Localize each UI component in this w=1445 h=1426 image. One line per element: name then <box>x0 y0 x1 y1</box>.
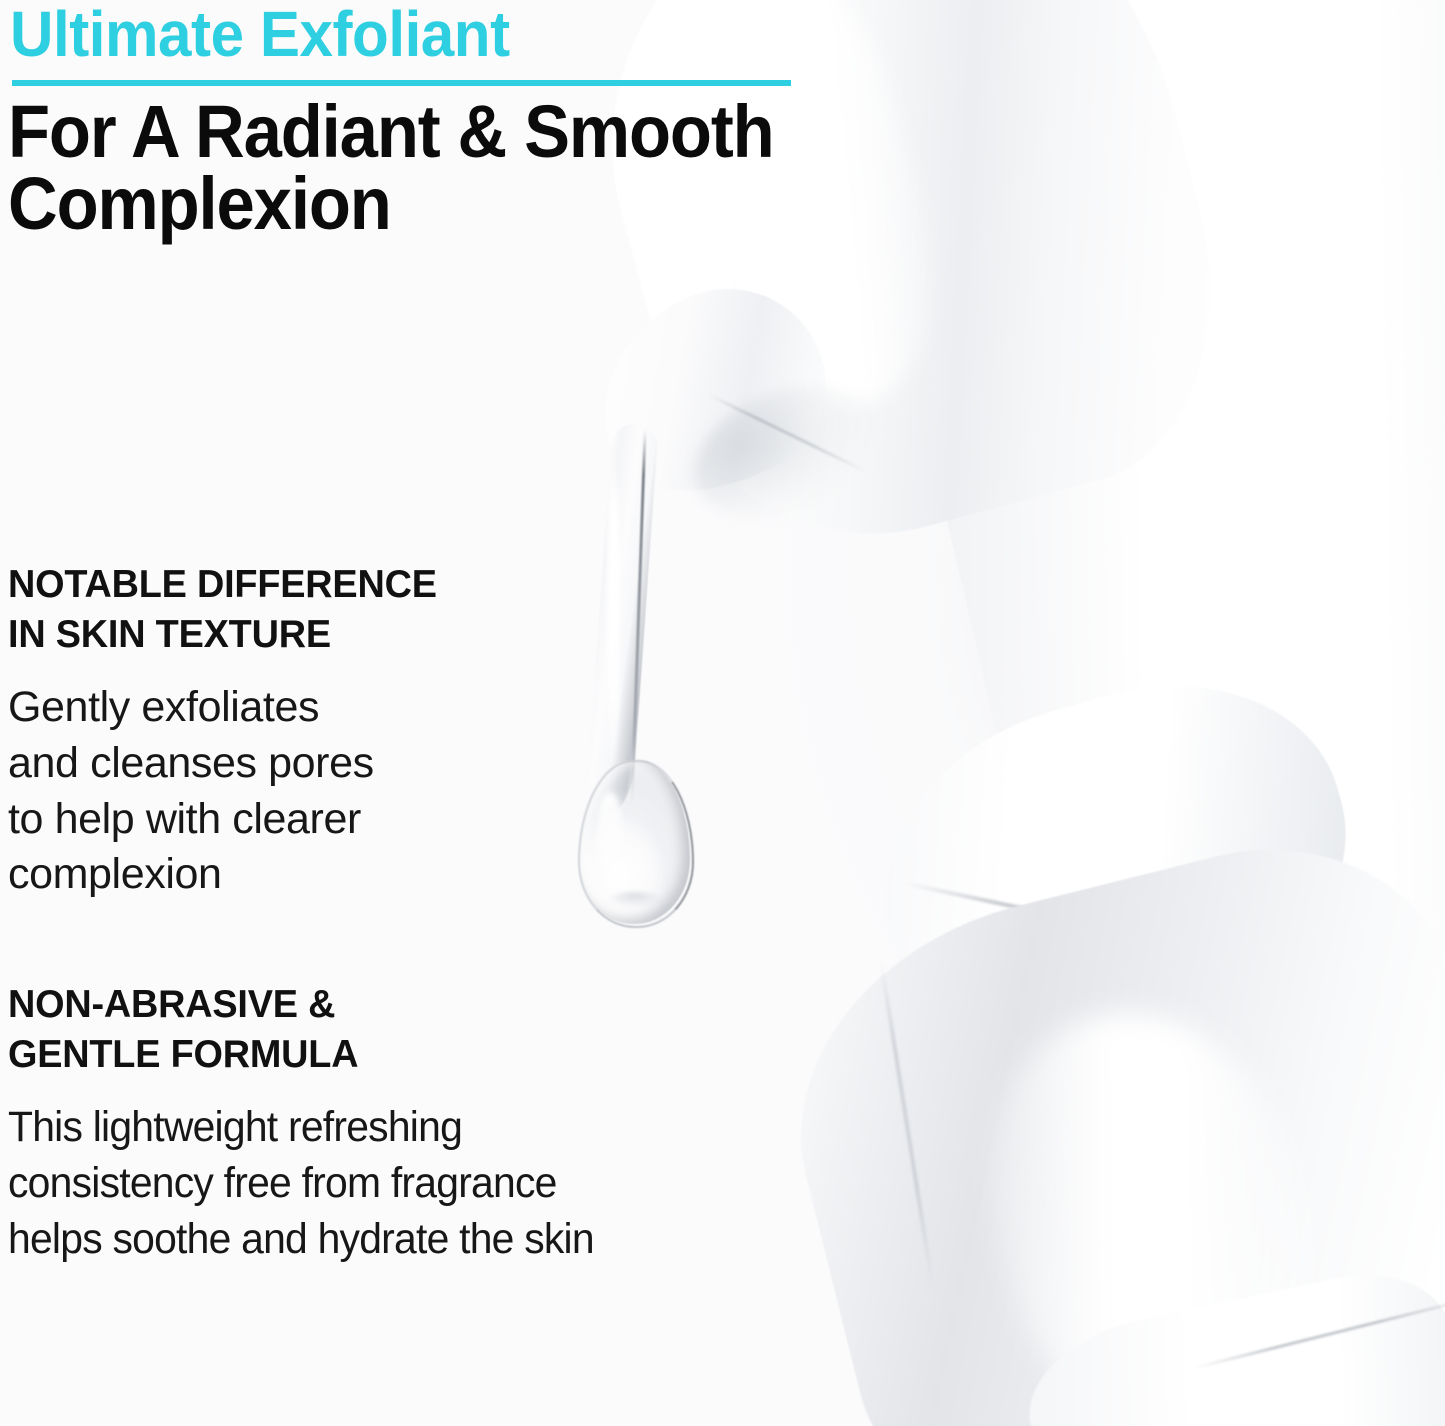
feature-block-skin-texture: NOTABLE DIFFERENCE IN SKIN TEXTURE Gentl… <box>8 560 568 903</box>
page-title: For A Radiant & Smooth Complexion <box>8 96 1050 240</box>
eyebrow-underline <box>12 80 791 86</box>
feature-body: Gently exfoliates and cleanses pores to … <box>8 680 568 904</box>
feature-body: This lightweight refreshing consistency … <box>8 1100 730 1268</box>
feature-title: NON-ABRASIVE & GENTLE FORMULA <box>8 980 745 1080</box>
feature-title: NOTABLE DIFFERENCE IN SKIN TEXTURE <box>8 560 551 660</box>
feature-block-gentle-formula: NON-ABRASIVE & GENTLE FORMULA This light… <box>8 980 768 1267</box>
product-feature-banner: Ultimate Exfoliant For A Radiant & Smoot… <box>0 0 1445 1426</box>
eyebrow-title: Ultimate Exfoliant <box>10 2 510 66</box>
copy-layer: Ultimate Exfoliant For A Radiant & Smoot… <box>0 0 1445 1426</box>
eyebrow-wrap: Ultimate Exfoliant <box>10 2 542 66</box>
